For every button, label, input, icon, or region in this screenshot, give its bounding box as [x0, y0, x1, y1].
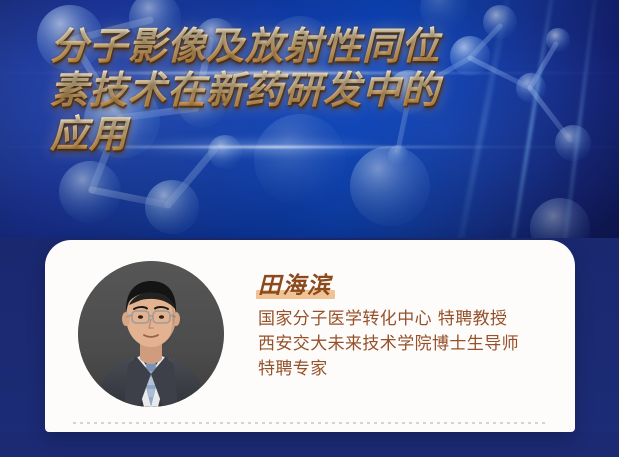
speaker-name-wrap: 田海滨: [258, 266, 332, 300]
poster-root: 分子影像及放射性同位 素技术在新药研发中的 应用: [0, 0, 619, 457]
title-line-3: 应用: [50, 112, 570, 156]
speaker-card: 田海滨 国家分子医学转化中心 特聘教授 西安交大未来技术学院博士生导师 特聘专家: [45, 240, 575, 432]
speaker-avatar: [78, 261, 224, 407]
title-line-1: 分子影像及放射性同位: [50, 24, 570, 68]
speaker-credential-2: 西安交大未来技术学院博士生导师: [258, 332, 557, 357]
speaker-name: 田海滨: [258, 273, 332, 299]
poster-title: 分子影像及放射性同位 素技术在新药研发中的 应用: [50, 24, 570, 156]
bottom-band: [0, 432, 619, 457]
speaker-info: 田海滨 国家分子医学转化中心 特聘教授 西安交大未来技术学院博士生导师 特聘专家: [258, 266, 557, 382]
card-dotted-divider: [73, 422, 547, 424]
title-line-2: 素技术在新药研发中的: [50, 68, 570, 112]
speaker-credential-3: 特聘专家: [258, 357, 557, 382]
speaker-credential-1: 国家分子医学转化中心 特聘教授: [258, 307, 557, 332]
